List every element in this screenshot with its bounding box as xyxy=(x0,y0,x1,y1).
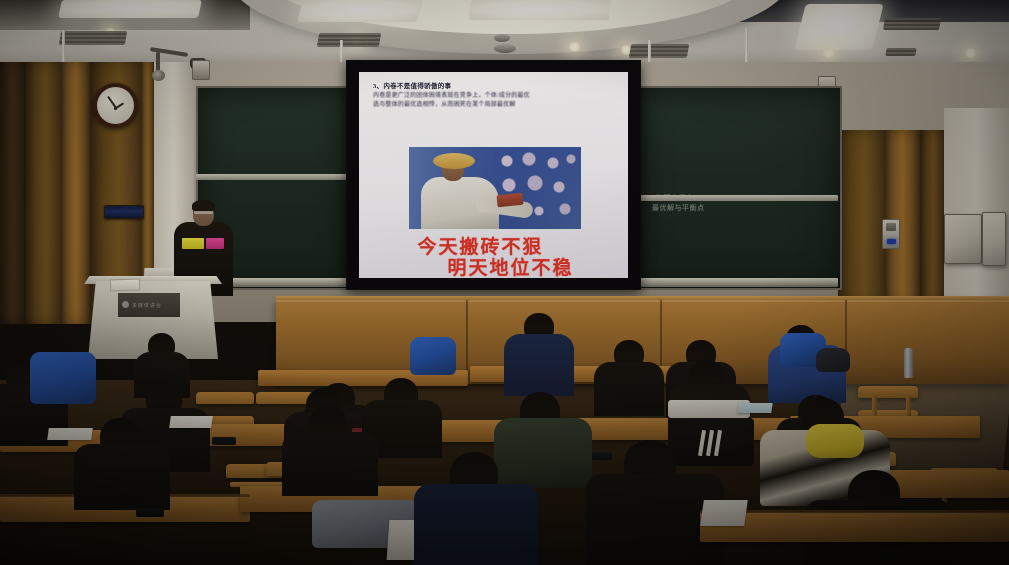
podium-plate: 多媒体讲台 xyxy=(118,293,180,317)
hoodie-graphic-pink xyxy=(206,238,224,249)
slide-photo-background xyxy=(495,147,581,229)
paper-sheet xyxy=(169,416,213,428)
projector-screen: 3、内卷不是值得骄傲的事 内卷是更广泛的团体困境表现在竞争上，个体/成分的最优 … xyxy=(346,60,641,290)
wall-clock xyxy=(93,83,138,128)
ceiling-light-panel xyxy=(794,4,883,50)
podium-plate-text: 多媒体讲台 xyxy=(132,302,162,309)
lecturer-glasses xyxy=(194,211,213,214)
podium-name-card xyxy=(110,278,140,291)
access-card-reader[interactable] xyxy=(882,219,900,249)
smoke-detector-icon xyxy=(494,34,510,42)
blue-backpack xyxy=(410,337,456,375)
student-body xyxy=(282,432,378,496)
screen-hanger-rod xyxy=(648,40,651,62)
chalkboard-rail xyxy=(638,195,838,201)
electrical-panel[interactable] xyxy=(982,212,1006,266)
slide-photo-straw-hat xyxy=(433,153,475,169)
ceiling-light-panel xyxy=(58,0,202,18)
student-body xyxy=(504,334,574,396)
hvac-vent xyxy=(883,18,941,30)
wood-wall-panel xyxy=(62,62,90,324)
slide-text-block: 3、内卷不是值得骄傲的事 内卷是更广泛的团体困境表现在竞争上，个体/成分的最优 … xyxy=(373,80,618,109)
podium-logo-icon xyxy=(122,301,129,308)
smartphone-on-desk[interactable] xyxy=(136,508,164,517)
ceiling-light-panel xyxy=(297,0,423,22)
hvac-vent xyxy=(317,33,381,47)
student-body xyxy=(594,362,664,416)
water-bottle xyxy=(904,348,913,378)
slide-title: 3、内卷不是值得骄傲的事 xyxy=(373,80,618,90)
downlight-icon xyxy=(964,48,977,58)
downlight-icon xyxy=(568,42,581,52)
hoodie-graphic-yellow xyxy=(182,238,204,249)
ceiling-light-panel xyxy=(469,0,611,20)
paper-sheet xyxy=(700,500,748,526)
slide-photo xyxy=(409,147,581,229)
paper-sheet-blue xyxy=(737,403,772,413)
lecture-hall-photo: 物理之根本 最优解与平衡点 3、内卷不是值得骄傲的事 内卷是更广泛的团体困境表现… xyxy=(0,0,1009,565)
hvac-vent xyxy=(885,48,916,56)
security-camera-icon xyxy=(152,70,165,81)
slide-surface: 3、内卷不是值得骄傲的事 内卷是更广泛的团体困境表现在竞争上，个体/成分的最优 … xyxy=(359,72,628,278)
student-body xyxy=(74,444,170,510)
chalkboard-rail xyxy=(196,174,348,180)
student-body xyxy=(494,418,592,488)
wood-wall-panel xyxy=(0,62,26,324)
chalk-tray xyxy=(638,278,838,287)
hvac-vent xyxy=(629,44,689,58)
clock-center-pin xyxy=(114,107,117,110)
desk-row-front xyxy=(700,512,1009,542)
screen-hanger-rod xyxy=(340,40,343,64)
chair-back[interactable] xyxy=(196,392,254,404)
slide-caption-line-2: 明天地位不稳 xyxy=(359,253,628,278)
wall-speaker-icon xyxy=(192,60,210,80)
projector-mount-plate xyxy=(494,44,516,53)
dark-backpack xyxy=(816,348,850,372)
card-reader-screen xyxy=(886,223,896,231)
smartphone-on-desk[interactable] xyxy=(212,437,236,445)
blue-backpack xyxy=(30,352,96,404)
chalk-writing: 最优解与平衡点 xyxy=(652,204,705,213)
paper-sheet xyxy=(47,428,93,440)
slide-body-line-2: 选与整体的最优选相悖，从而困死在某个局部最优解 xyxy=(373,101,618,110)
downlight-icon xyxy=(822,48,835,58)
student-body xyxy=(414,484,538,565)
chalkboard-right: 物理之根本 最优解与平衡点 xyxy=(638,86,842,290)
barrier-seam xyxy=(845,300,847,356)
blue-room-plaque xyxy=(104,205,144,219)
jacket-yellow-hood xyxy=(806,424,864,458)
lecturer-hair xyxy=(192,200,215,211)
wood-wall-panel xyxy=(26,62,62,324)
electrical-panel[interactable] xyxy=(944,214,982,264)
card-reader-led xyxy=(887,239,896,244)
slide-body-line-1: 内卷是更广泛的团体困境表现在竞争上，个体/成分的最优 xyxy=(373,92,618,101)
hvac-vent xyxy=(59,31,127,45)
clock-face xyxy=(97,87,134,124)
